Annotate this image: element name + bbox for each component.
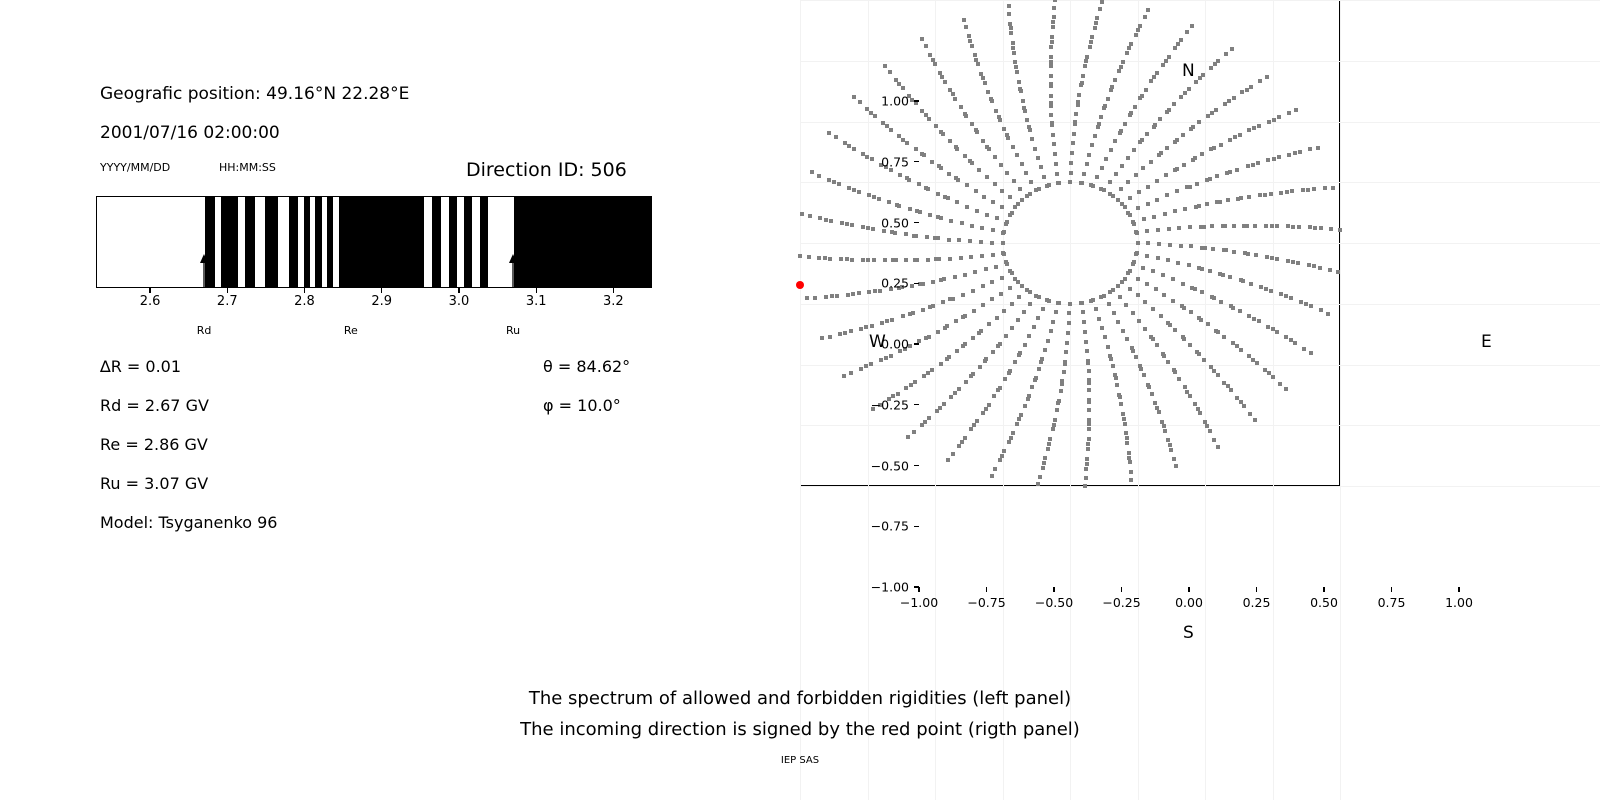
date-format-hint: YYYY/MM/DD bbox=[100, 161, 170, 174]
spectrum-tick bbox=[458, 288, 459, 293]
time-format-hint: HH:MM:SS bbox=[219, 161, 276, 174]
spectrum-tick bbox=[536, 288, 537, 293]
y-axis-tick-label: −0.25 bbox=[857, 397, 909, 412]
y-axis-tick bbox=[914, 100, 919, 101]
spectrum-tick bbox=[304, 288, 305, 293]
forbidden-band bbox=[289, 197, 297, 287]
param-theta: θ = 84.62° bbox=[543, 357, 630, 376]
spectrum-tick-label: 2.6 bbox=[140, 294, 161, 309]
y-axis-tick bbox=[914, 343, 919, 344]
x-axis-tick bbox=[1458, 587, 1459, 592]
forbidden-band bbox=[245, 197, 254, 287]
marker-label-ru: Ru bbox=[506, 324, 520, 337]
param-re: Re = 2.86 GV bbox=[100, 435, 208, 454]
param-delta-r: ∆R = 0.01 bbox=[100, 357, 181, 376]
y-axis-tick bbox=[914, 283, 919, 284]
right-panel: −1.00−0.75−0.50−0.250.000.250.500.751.00… bbox=[800, 0, 1600, 800]
caption-line-2: The incoming direction is signed by the … bbox=[0, 719, 1600, 740]
spectrum-tick bbox=[227, 288, 228, 293]
x-axis-tick bbox=[918, 587, 919, 592]
x-axis-tick bbox=[1188, 587, 1189, 592]
y-axis-tick bbox=[914, 161, 919, 162]
left-panel: Geografic position: 49.16°N 22.28°E 2001… bbox=[0, 0, 800, 800]
forbidden-band bbox=[327, 197, 333, 287]
y-axis-tick bbox=[914, 222, 919, 223]
forbidden-band bbox=[304, 197, 310, 287]
forbidden-band bbox=[265, 197, 278, 287]
x-axis-tick-label: 0.75 bbox=[1378, 595, 1406, 610]
forbidden-band bbox=[449, 197, 457, 287]
y-axis-tick-label: −1.00 bbox=[857, 580, 909, 595]
y-axis-tick-label: 0.25 bbox=[857, 276, 909, 291]
param-model: Model: Tsyganenko 96 bbox=[100, 513, 277, 532]
spectrum-tick-label: 3.0 bbox=[449, 294, 470, 309]
forbidden-band bbox=[514, 197, 652, 287]
marker-arrow-ru bbox=[506, 254, 520, 288]
spectrum-tick-label: 2.9 bbox=[371, 294, 392, 309]
y-axis-tick-label: −0.50 bbox=[857, 458, 909, 473]
x-axis-tick-label: 1.00 bbox=[1445, 595, 1473, 610]
compass-label-north: N bbox=[1182, 61, 1195, 81]
compass-label-east: E bbox=[1481, 332, 1492, 352]
caption-line-1: The spectrum of allowed and forbidden ri… bbox=[0, 688, 1600, 709]
compass-label-west: W bbox=[869, 332, 886, 352]
polar-axis-decorations: −1.00−0.75−0.50−0.250.000.250.500.751.00… bbox=[800, 0, 1600, 800]
x-axis-tick bbox=[1256, 587, 1257, 592]
footer-credit: IEP SAS bbox=[0, 755, 1600, 766]
forbidden-band bbox=[432, 197, 441, 287]
rigidity-spectrum-chart bbox=[96, 196, 652, 288]
y-axis-tick bbox=[914, 526, 919, 527]
y-axis-tick-label: 0.75 bbox=[857, 154, 909, 169]
spectrum-x-axis: 2.62.72.82.93.03.13.2RdReRu bbox=[96, 288, 652, 358]
param-ru: Ru = 3.07 GV bbox=[100, 474, 208, 493]
x-axis-tick bbox=[1121, 587, 1122, 592]
y-axis-tick-label: −0.75 bbox=[857, 519, 909, 534]
marker-label-re: Re bbox=[344, 324, 358, 337]
x-axis-tick-label: −0.25 bbox=[1102, 595, 1140, 610]
forbidden-band bbox=[480, 197, 488, 287]
forbidden-band bbox=[464, 197, 472, 287]
spectrum-tick-label: 3.1 bbox=[526, 294, 547, 309]
spectrum-tick-label: 2.8 bbox=[294, 294, 315, 309]
y-axis-tick bbox=[914, 465, 919, 466]
spectrum-tick-label: 3.2 bbox=[603, 294, 624, 309]
spectrum-tick bbox=[149, 288, 150, 293]
y-axis-tick-label: 0.50 bbox=[857, 215, 909, 230]
x-axis-tick bbox=[1323, 587, 1324, 592]
datetime-label: 2001/07/16 02:00:00 bbox=[100, 123, 280, 143]
forbidden-band bbox=[221, 197, 237, 287]
spectrum-bar bbox=[96, 196, 652, 288]
marker-arrow-rd bbox=[197, 254, 211, 288]
compass-label-south: S bbox=[1183, 623, 1194, 643]
x-axis-tick-label: −0.75 bbox=[967, 595, 1005, 610]
x-axis-tick bbox=[1391, 587, 1392, 592]
x-axis-tick bbox=[986, 587, 987, 592]
x-axis-tick-label: 0.00 bbox=[1175, 595, 1203, 610]
direction-id-label: Direction ID: 506 bbox=[466, 159, 627, 181]
param-phi: φ = 10.0° bbox=[543, 396, 621, 415]
geographic-position-label: Geografic position: 49.16°N 22.28°E bbox=[100, 84, 409, 104]
y-axis-tick-label: 1.00 bbox=[857, 94, 909, 109]
x-axis-tick-label: −0.50 bbox=[1035, 595, 1073, 610]
forbidden-band bbox=[315, 197, 323, 287]
marker-arrow-re bbox=[344, 254, 358, 288]
x-axis-tick-label: 0.50 bbox=[1310, 595, 1338, 610]
x-axis-tick-label: −1.00 bbox=[900, 595, 938, 610]
spectrum-tick-label: 2.7 bbox=[217, 294, 238, 309]
spectrum-tick bbox=[613, 288, 614, 293]
x-axis-tick-label: 0.25 bbox=[1243, 595, 1271, 610]
y-axis-tick bbox=[914, 404, 919, 405]
param-rd: Rd = 2.67 GV bbox=[100, 396, 209, 415]
spectrum-tick bbox=[381, 288, 382, 293]
x-axis-tick bbox=[1053, 587, 1054, 592]
marker-label-rd: Rd bbox=[197, 324, 212, 337]
